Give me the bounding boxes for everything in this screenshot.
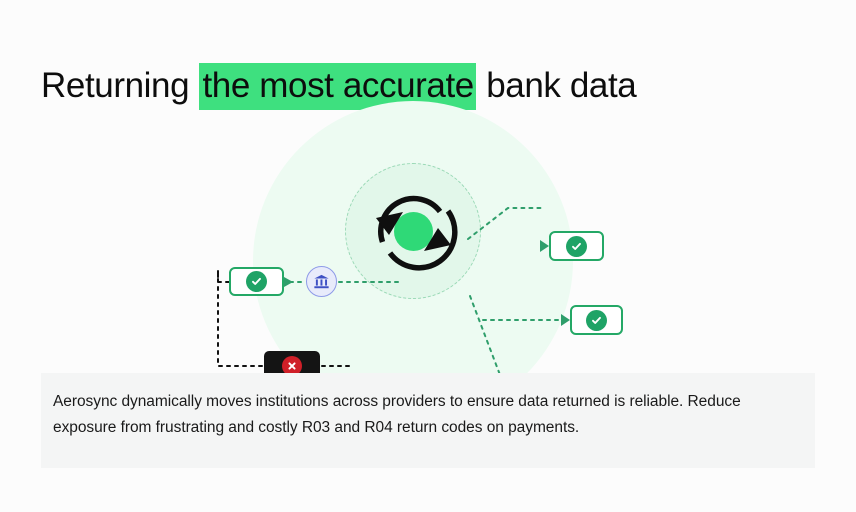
check-circle-icon [246,271,267,292]
bank-institution-icon[interactable] [306,266,337,297]
check-circle-icon [586,310,607,331]
returned-data-card-1[interactable] [549,231,604,261]
description-text: Aerosync dynamically moves institutions … [53,389,789,441]
marketing-feature-card: Returning the most accurate bank data [0,0,856,512]
bank-icon [313,273,330,290]
returned-data-card-2[interactable] [570,305,623,335]
routing-diagram [0,96,856,381]
description-panel: Aerosync dynamically moves institutions … [41,373,815,468]
check-circle-icon [566,236,587,257]
source-success-card[interactable] [229,267,284,296]
sync-arrows-icon [362,180,465,283]
